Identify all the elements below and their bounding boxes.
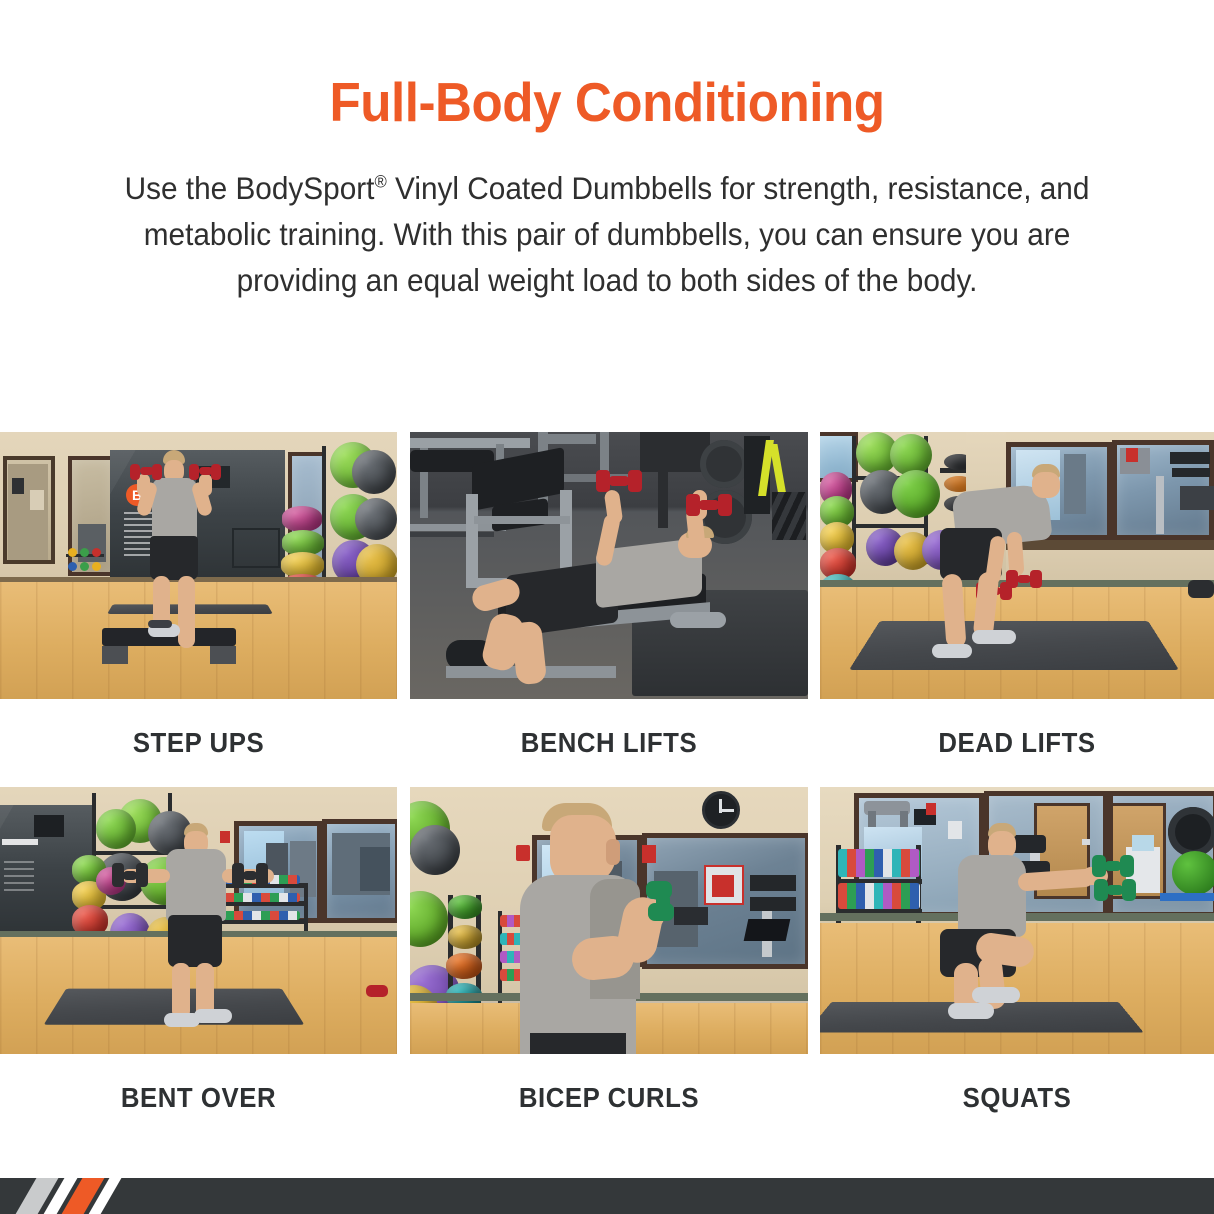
exercise-caption: BENT OVER (16, 1054, 381, 1142)
exercise-caption: SQUATS (836, 1054, 1198, 1142)
exercise-photo-step-ups: B (0, 432, 397, 699)
exercise-caption: BENCH LIFTS (426, 699, 792, 787)
exercise-photo-bench-lifts (410, 432, 808, 699)
exercise-card-bent-over[interactable]: BENT OVER (0, 787, 397, 1142)
intro-paragraph: Use the BodySport® Vinyl Coated Dumbbell… (105, 166, 1109, 304)
footer-bar (0, 1178, 1214, 1214)
exercise-card-bench-lifts[interactable]: BENCH LIFTS (410, 432, 808, 787)
header: Full-Body Conditioning Use the BodySport… (0, 0, 1214, 304)
exercise-caption: STEP UPS (16, 699, 381, 787)
poster-page: Full-Body Conditioning Use the BodySport… (0, 0, 1214, 1214)
exercise-photo-dead-lifts (820, 432, 1214, 699)
exercise-caption: DEAD LIFTS (836, 699, 1198, 787)
exercise-grid: B (0, 432, 1214, 1142)
page-title: Full-Body Conditioning (42, 74, 1171, 132)
exercise-card-bicep-curls[interactable]: BICEP CURLS (410, 787, 808, 1142)
exercise-photo-bent-over (0, 787, 397, 1054)
exercise-row-2: BENT OVER (0, 787, 1214, 1142)
exercise-caption: BICEP CURLS (426, 1054, 792, 1142)
intro-text-before: Use the BodySport (125, 170, 375, 206)
exercise-card-step-ups[interactable]: B (0, 432, 397, 787)
registered-mark: ® (374, 171, 386, 191)
exercise-card-squats[interactable]: SQUATS (820, 787, 1214, 1142)
exercise-photo-squats (820, 787, 1214, 1054)
exercise-row-1: B (0, 432, 1214, 787)
exercise-photo-bicep-curls (410, 787, 808, 1054)
exercise-card-dead-lifts[interactable]: DEAD LIFTS (820, 432, 1214, 787)
